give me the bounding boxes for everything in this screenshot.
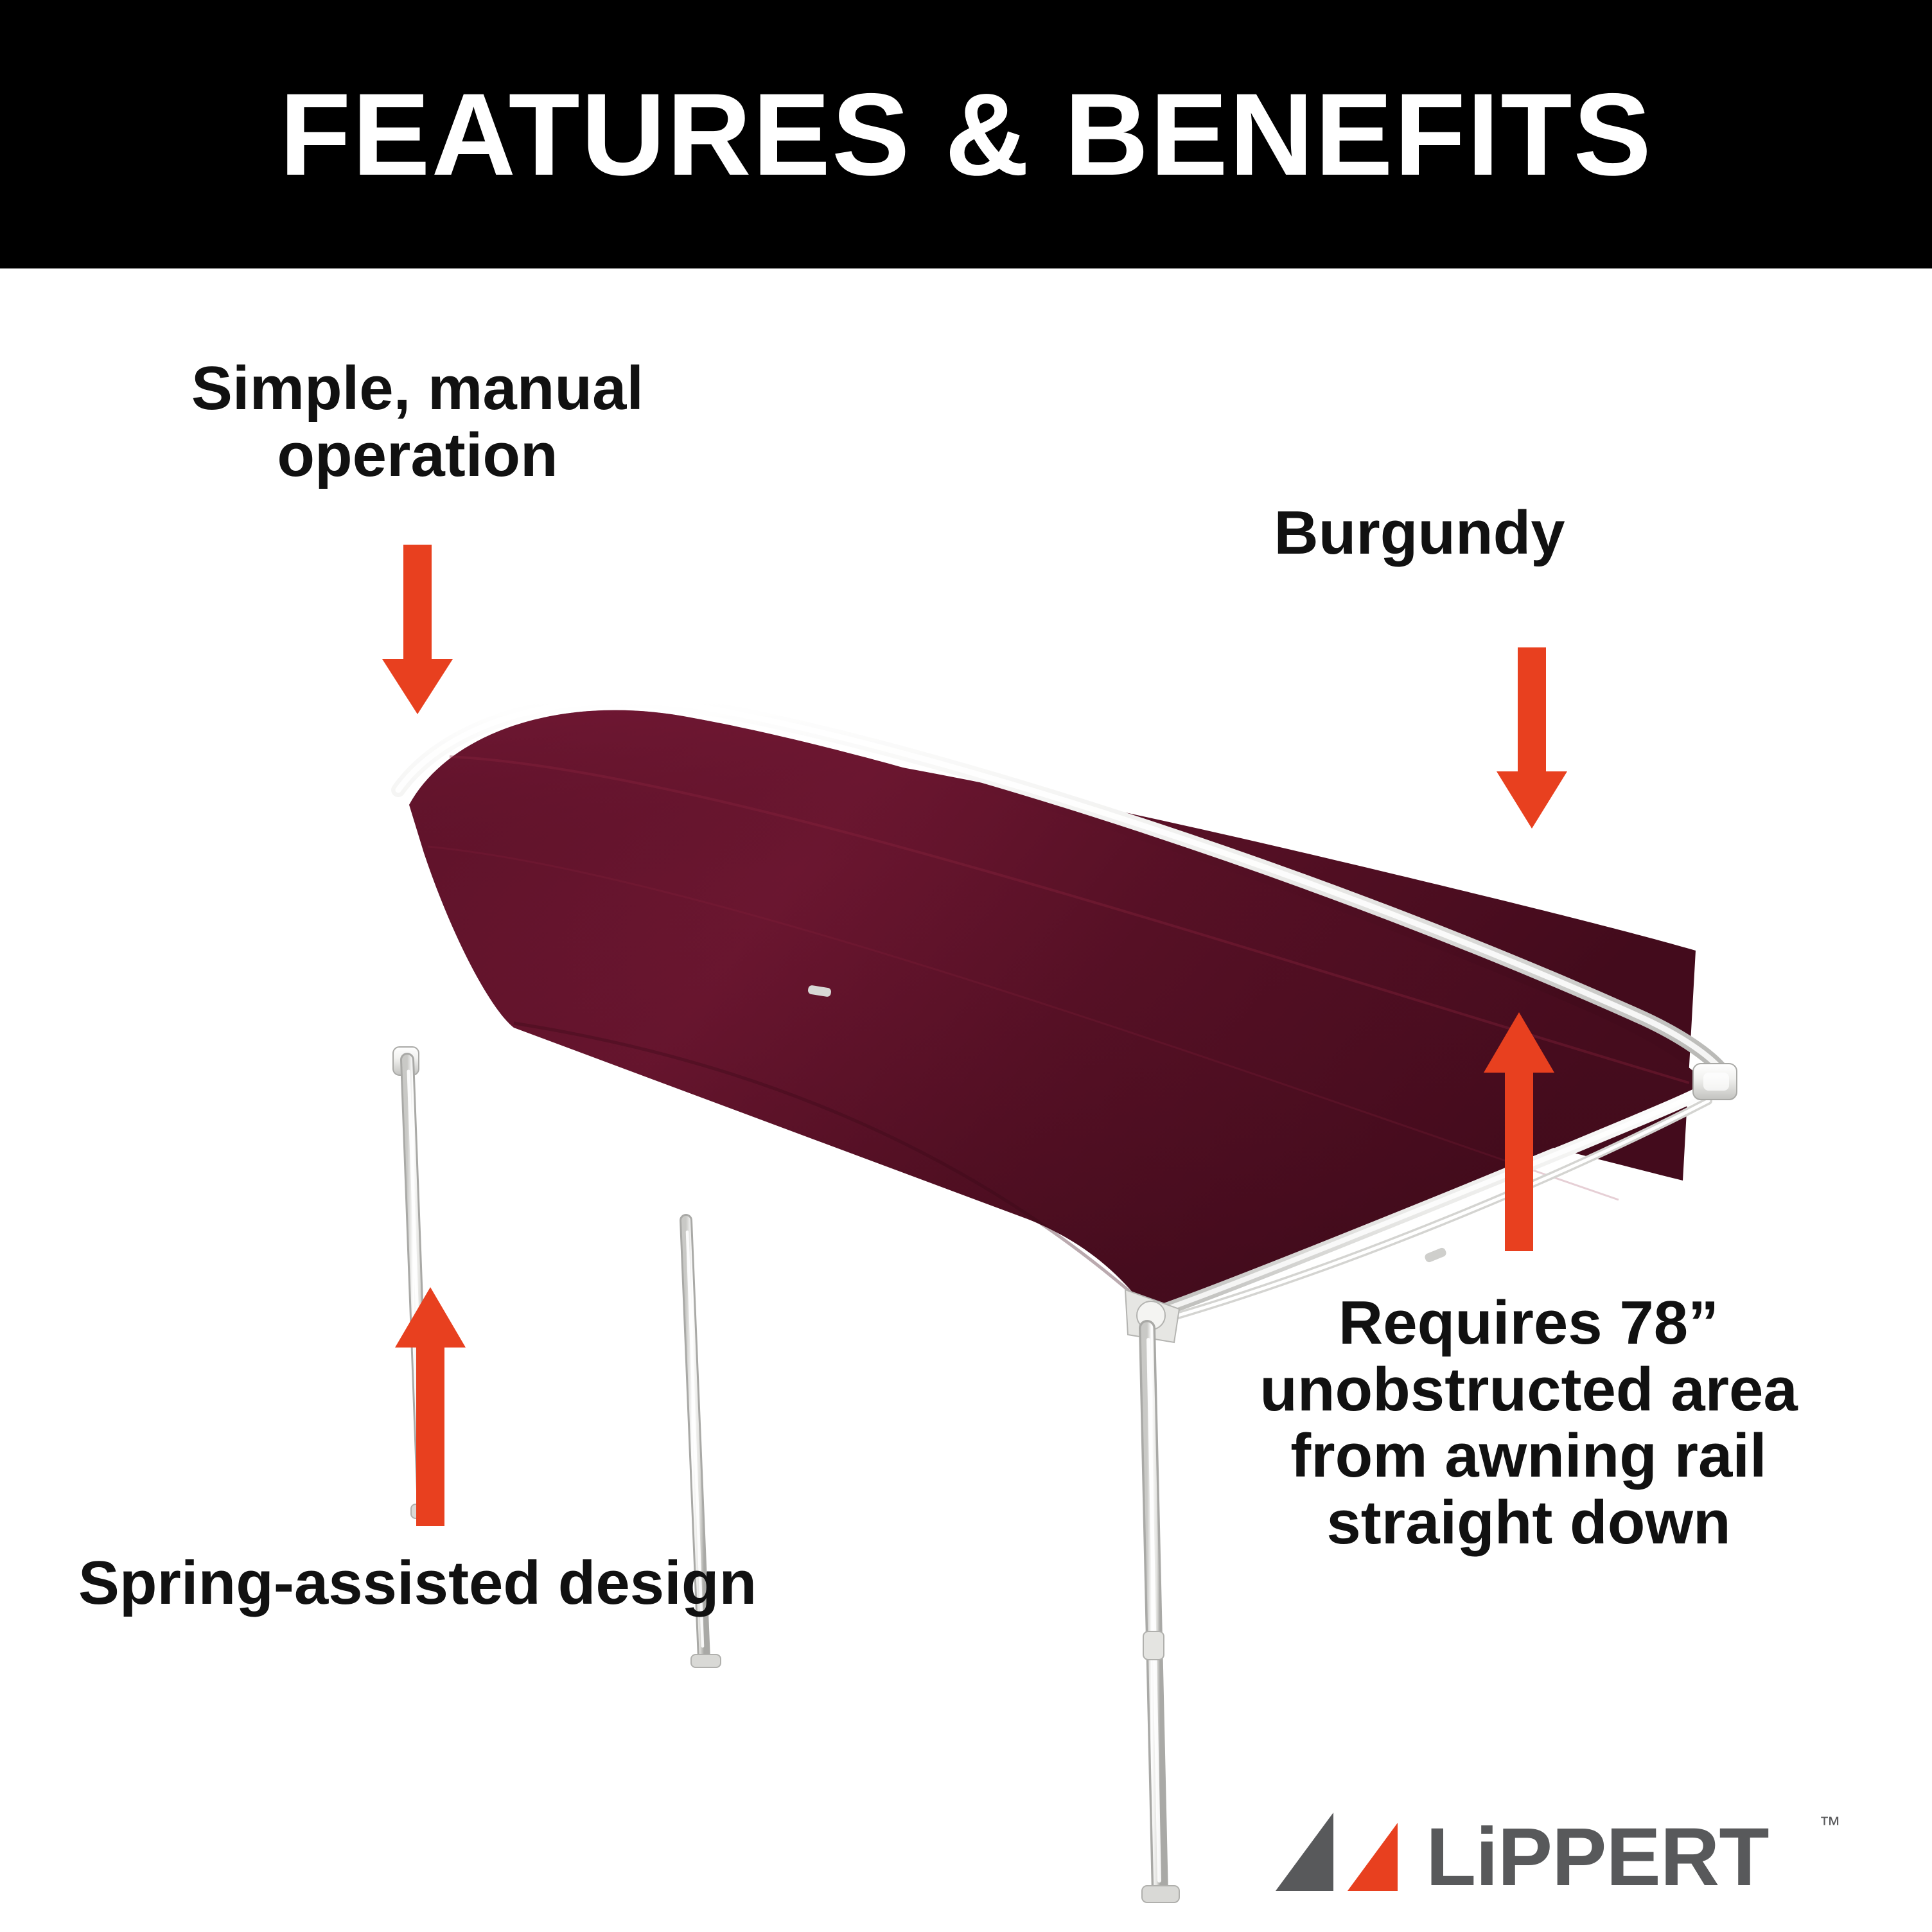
diagram-canvas: Simple, manual operation Burgundy Spring… xyxy=(0,268,1932,1932)
lippert-logo-mark xyxy=(1272,1809,1432,1904)
leg-right xyxy=(1142,1328,1179,1902)
lippert-logo-wordmark: LiPPERT xyxy=(1426,1810,1769,1904)
arrow-down-simple-manual xyxy=(376,545,459,718)
right-rail-bracket xyxy=(1693,1064,1737,1100)
callout-label-requires-clearance: Requires 78” unobstructed area from awni… xyxy=(1207,1290,1850,1556)
arrow-up-spring-assisted xyxy=(389,1282,472,1526)
arrow-down-burgundy xyxy=(1490,647,1574,834)
callout-label-simple-manual-operation: Simple, manual operation xyxy=(96,355,739,488)
right-knuckle xyxy=(1125,1290,1179,1342)
callout-label-spring-assisted-design: Spring-assisted design xyxy=(77,1550,758,1617)
lippert-logo: LiPPERT ™ xyxy=(1272,1804,1863,1906)
header-band: FEATURES & BENEFITS xyxy=(0,0,1932,268)
left-roller-end xyxy=(393,1047,419,1075)
lippert-logo-trademark: ™ xyxy=(1819,1813,1841,1838)
page-title: FEATURES & BENEFITS xyxy=(279,76,1653,193)
arrow-up-requires-clearance xyxy=(1477,1007,1561,1251)
callout-label-burgundy: Burgundy xyxy=(1143,500,1696,566)
